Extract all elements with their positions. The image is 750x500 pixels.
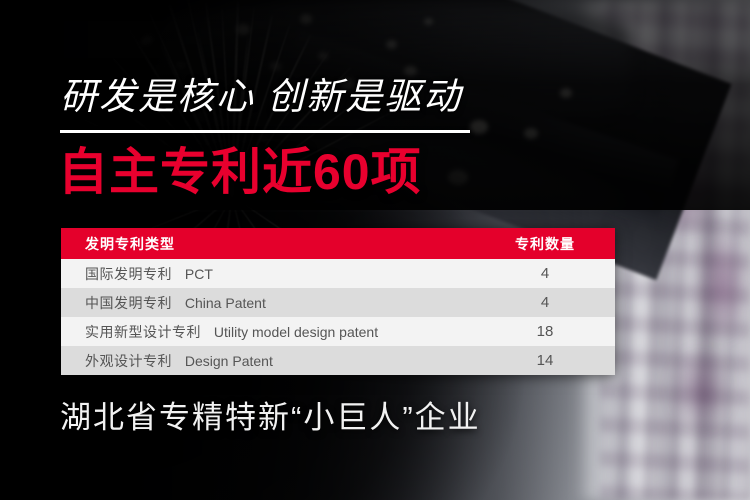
table-row: 国际发明专利 PCT 4: [61, 259, 615, 288]
table-row: 实用新型设计专利 Utility model design patent 18: [61, 317, 615, 346]
patent-type-en: China Patent: [185, 295, 266, 311]
table-header-type: 发明专利类型: [61, 234, 475, 254]
footer-award-line: 湖北省专精特新“小巨人”企业: [60, 402, 481, 433]
patent-type-cn: 外观设计专利: [85, 353, 172, 369]
headline-top: 研发是核心 创新是驱动: [60, 78, 462, 115]
table-row: 中国发明专利 China Patent 4: [61, 288, 615, 317]
headline-divider: [60, 130, 470, 133]
patent-type-cn: 中国发明专利: [85, 295, 172, 311]
patent-table: 发明专利类型 专利数量 国际发明专利 PCT 4 中国发明专利 China Pa…: [61, 228, 615, 375]
table-cell-type: 实用新型设计专利 Utility model design patent: [61, 322, 475, 342]
table-cell-count: 14: [475, 352, 615, 369]
patent-type-en: PCT: [185, 266, 213, 282]
table-cell-type: 外观设计专利 Design Patent: [61, 351, 475, 371]
table-cell-count: 18: [475, 323, 615, 340]
banner-content: 研发是核心 创新是驱动 自主专利近60项 发明专利类型 专利数量 国际发明专利 …: [0, 0, 750, 500]
table-cell-count: 4: [475, 294, 615, 311]
patent-type-en: Utility model design patent: [214, 324, 378, 340]
table-cell-count: 4: [475, 265, 615, 282]
table-row: 外观设计专利 Design Patent 14: [61, 346, 615, 375]
patent-type-cn: 国际发明专利: [85, 266, 172, 282]
table-cell-type: 国际发明专利 PCT: [61, 264, 475, 284]
patent-type-en: Design Patent: [185, 353, 273, 369]
patent-type-cn: 实用新型设计专利: [85, 324, 201, 340]
headline-patent-count: 自主专利近60项: [58, 145, 422, 200]
table-header-row: 发明专利类型 专利数量: [61, 228, 615, 259]
banner-stage: 研发是核心 创新是驱动 自主专利近60项 发明专利类型 专利数量 国际发明专利 …: [0, 0, 750, 500]
table-cell-type: 中国发明专利 China Patent: [61, 293, 475, 313]
table-header-count: 专利数量: [475, 234, 615, 254]
